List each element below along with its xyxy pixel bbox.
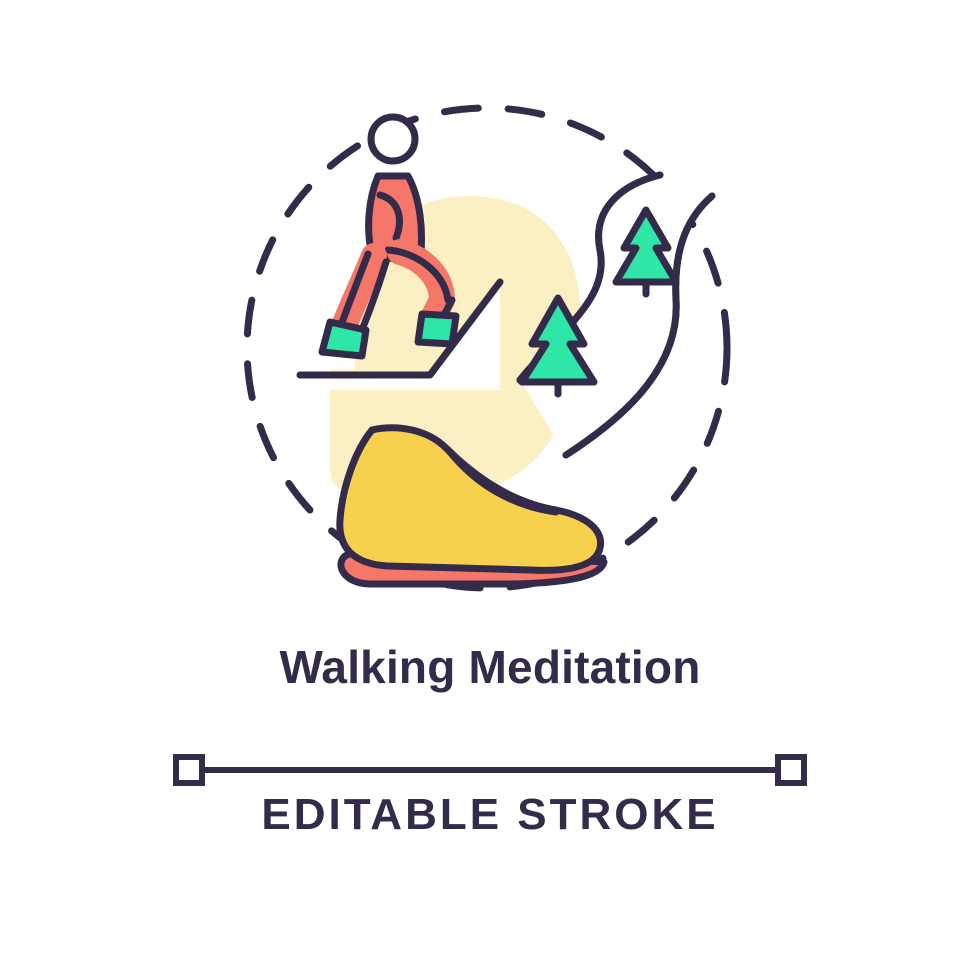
- concept-icon-page: Walking Meditation EDITABLE STROKE: [0, 0, 980, 980]
- editable-stroke-label: EDITABLE STROKE: [0, 790, 980, 840]
- illustration-container: [0, 0, 980, 620]
- page-title: Walking Meditation: [0, 640, 980, 694]
- walking-meditation-illustration: [0, 0, 980, 620]
- square-handle-right-icon: [778, 757, 804, 783]
- square-handle-left-icon: [176, 757, 202, 783]
